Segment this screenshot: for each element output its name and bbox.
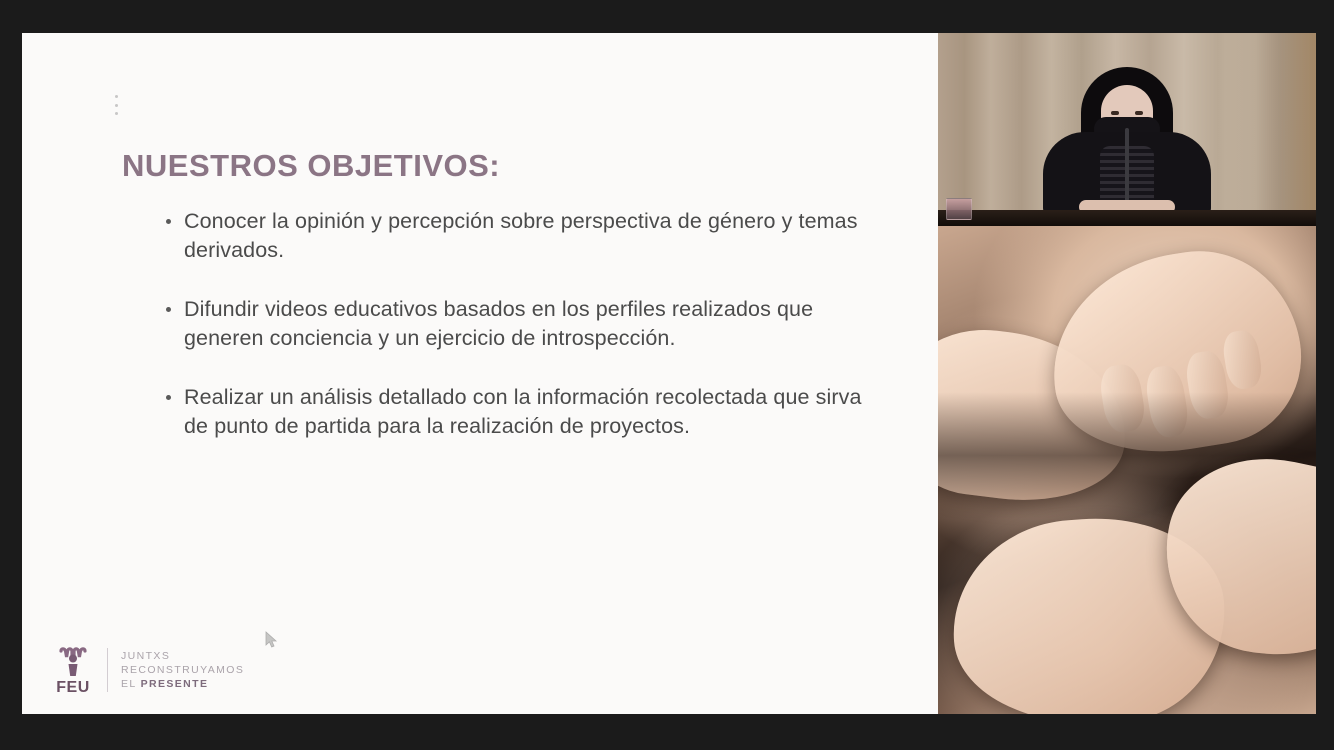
screen-root: NUESTROS OBJETIVOS: Conocer la opinión y… — [0, 0, 1334, 750]
presenter-eye-left — [1111, 111, 1119, 115]
logo-divider — [107, 648, 108, 692]
tagline-line-3-bold: PRESENTE — [141, 678, 209, 690]
feu-logo: FEU JUNTXS RECONSTRUYAMOS EL PRESENTE — [52, 644, 244, 696]
presenter-webcam-feed[interactable] — [938, 33, 1316, 226]
wall-shadow — [1225, 33, 1316, 226]
logo-acronym: FEU — [56, 680, 90, 696]
raised-arms-figure-icon: FEU — [52, 644, 94, 696]
desk-surface — [938, 210, 1316, 226]
kebab-menu-icon[interactable] — [111, 95, 121, 115]
objectives-list: Conocer la opinión y percepción sobre pe… — [162, 207, 882, 471]
list-item: Realizar un análisis detallado con la in… — [162, 383, 882, 441]
tagline-line-1: JUNTXS — [121, 649, 244, 663]
presenter-figure — [1027, 51, 1227, 216]
tagline-line-3: EL PRESENTE — [121, 677, 244, 691]
slide-content: NUESTROS OBJETIVOS: Conocer la opinión y… — [22, 33, 938, 714]
video-panel[interactable] — [938, 33, 1316, 714]
kebab-dot-3 — [115, 112, 118, 115]
list-item: Conocer la opinión y percepción sobre pe… — [162, 207, 882, 265]
slide-title: NUESTROS OBJETIVOS: — [122, 148, 500, 184]
hands-stacked-photo[interactable] — [938, 226, 1316, 714]
logo-tagline: JUNTXS RECONSTRUYAMOS EL PRESENTE — [121, 649, 244, 691]
kebab-dot-1 — [115, 95, 118, 98]
self-view-thumbnail[interactable] — [946, 198, 972, 220]
presentation-slide[interactable]: NUESTROS OBJETIVOS: Conocer la opinión y… — [22, 33, 938, 714]
list-item: Difundir videos educativos basados en lo… — [162, 295, 882, 353]
mouse-pointer-icon — [265, 631, 279, 649]
finger — [1221, 328, 1265, 391]
presenter-eye-right — [1135, 111, 1143, 115]
tagline-line-2: RECONSTRUYAMOS — [121, 663, 244, 677]
tagline-line-3-light: EL — [121, 678, 141, 690]
kebab-dot-2 — [115, 104, 118, 107]
